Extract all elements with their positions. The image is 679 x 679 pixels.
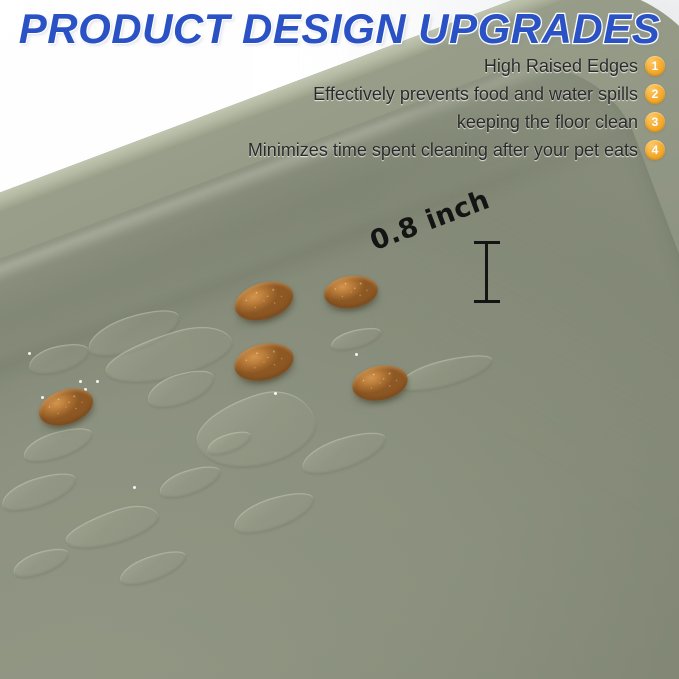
feature-number-badge: 2: [645, 84, 665, 104]
water-droplet: [156, 461, 224, 504]
feature-list: High Raised Edges1Effectively prevents f…: [248, 53, 665, 163]
feature-item: Effectively prevents food and water spil…: [248, 81, 665, 107]
dimension-line: [474, 238, 500, 306]
feature-label: Effectively prevents food and water spil…: [313, 84, 638, 105]
droplet-highlight: [133, 486, 136, 489]
feature-number-badge: 1: [645, 56, 665, 76]
feature-number-badge: 3: [645, 112, 665, 132]
dimension-stem: [485, 242, 488, 302]
water-droplet: [61, 498, 162, 558]
feature-label: Minimizes time spent cleaning after your…: [248, 140, 638, 161]
dimension-cap-bottom: [474, 300, 500, 303]
droplet-highlight: [96, 380, 99, 383]
feature-number-badge: 4: [645, 140, 665, 160]
water-droplet: [26, 339, 92, 379]
feature-item: High Raised Edges1: [248, 53, 665, 79]
page-title: PRODUCT DESIGN UPGRADES: [0, 6, 679, 52]
droplet-highlight: [274, 392, 277, 395]
water-droplet: [229, 486, 318, 540]
water-droplet: [0, 467, 80, 518]
water-droplet: [10, 544, 72, 583]
droplet-highlight: [28, 352, 31, 355]
water-droplet: [116, 545, 190, 590]
feature-label: keeping the floor clean: [457, 112, 638, 133]
water-droplet: [329, 324, 384, 354]
droplet-highlight: [79, 380, 82, 383]
droplet-highlight: [355, 353, 358, 356]
feature-label: High Raised Edges: [484, 56, 638, 77]
feature-item: keeping the floor clean3: [248, 109, 665, 135]
feature-item: Minimizes time spent cleaning after your…: [248, 137, 665, 163]
product-marketing-image: 0.8 inch PRODUCT DESIGN UPGRADES High Ra…: [0, 0, 679, 679]
droplet-highlight: [41, 396, 44, 399]
